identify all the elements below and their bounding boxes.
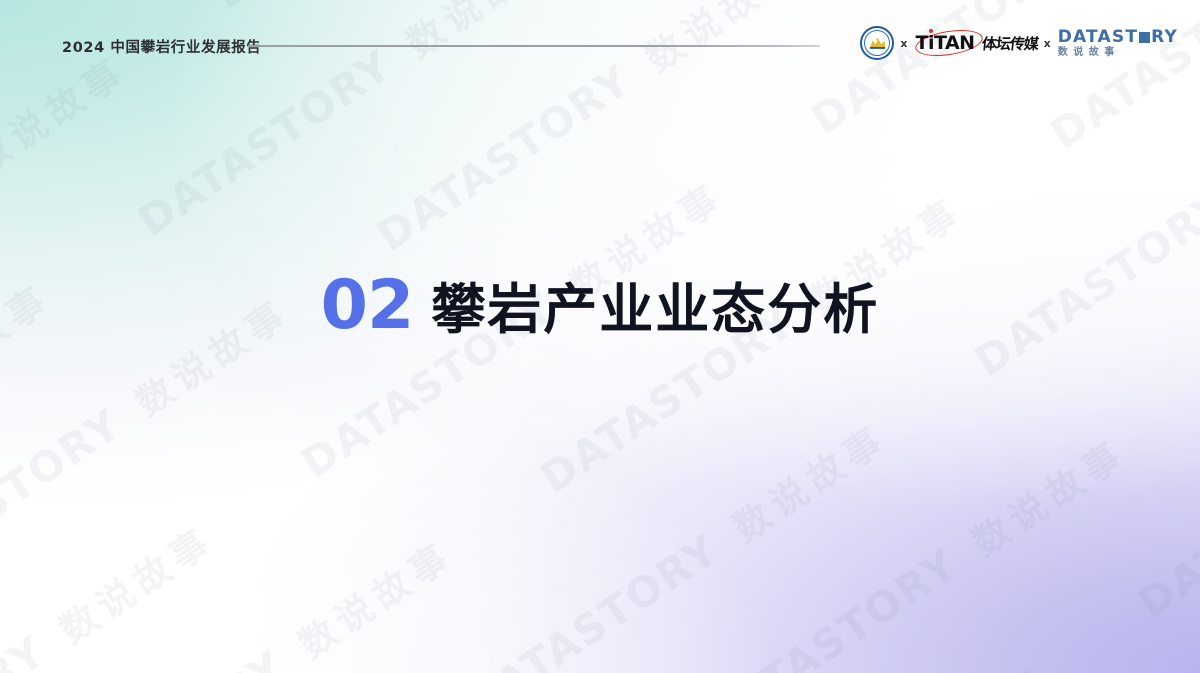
partner-logo-cluster: x TiTAN 体坛传媒 x DATAST RY 数说故事 bbox=[860, 22, 1178, 64]
datastory-cube-icon bbox=[1139, 32, 1150, 43]
section-number: 02 bbox=[321, 272, 414, 340]
slide-root: DATASTORY数说故事DATASTORY数说故事DATASTORY数说故事D… bbox=[0, 0, 1200, 673]
report-title-label: 2024 中国攀岩行业发展报告 bbox=[62, 36, 261, 57]
titan-logo: TiTAN 体坛传媒 bbox=[914, 26, 1038, 60]
logo-separator-x-2: x bbox=[1043, 37, 1052, 50]
titan-en-label: TiTAN bbox=[916, 32, 975, 54]
titan-wordmark: TiTAN bbox=[914, 29, 984, 57]
datastory-en-wordmark: DATAST RY bbox=[1058, 29, 1178, 46]
logo-separator-x: x bbox=[899, 37, 908, 50]
header-divider-line bbox=[248, 45, 820, 47]
titan-cn-label: 体坛传媒 bbox=[980, 33, 1038, 54]
titan-i-dot-icon bbox=[929, 29, 933, 33]
section-title-text: 攀岩产业业态分析 bbox=[431, 283, 879, 337]
mountain-emblem-icon bbox=[868, 36, 887, 50]
section-title-block: 02 攀岩产业业态分析 bbox=[0, 272, 1200, 340]
datastory-en-part1: DATAST bbox=[1058, 29, 1138, 46]
climbing-association-badge-icon bbox=[860, 26, 894, 60]
datastory-cn-label: 数说故事 bbox=[1058, 48, 1120, 58]
datastory-logo: DATAST RY 数说故事 bbox=[1057, 29, 1178, 58]
datastory-en-part2: RY bbox=[1151, 29, 1178, 46]
slide-header: 2024 中国攀岩行业发展报告 x TiTAN 体坛传媒 bbox=[0, 0, 1200, 86]
